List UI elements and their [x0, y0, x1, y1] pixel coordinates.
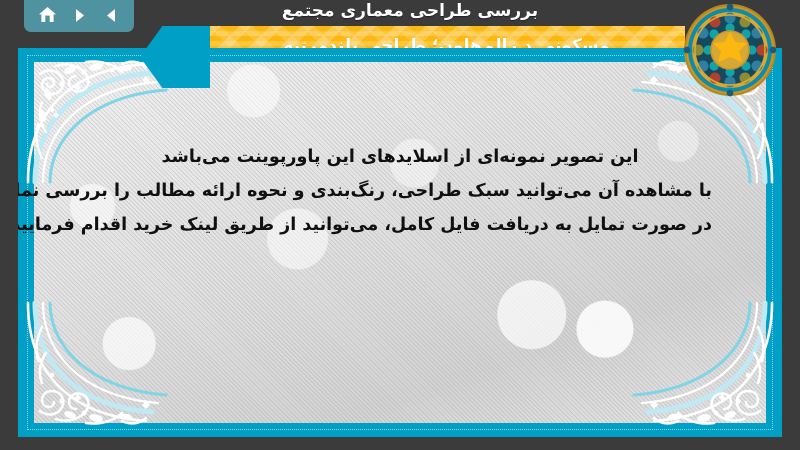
- body-line-3: در صورت تمایل به دریافت فایل کامل، می‌تو…: [88, 208, 712, 242]
- triangle-right-icon: [71, 7, 88, 24]
- slide-body-text: این تصویر نمونه‌ای از اسلایدهای این پاور…: [88, 140, 712, 242]
- body-line-1: این تصویر نمونه‌ای از اسلایدهای این پاور…: [88, 140, 712, 174]
- home-icon: [38, 6, 57, 24]
- body-line-2: با مشاهده آن می‌توانید سبک طراحی، رنگ‌بن…: [88, 174, 712, 208]
- back-button[interactable]: [98, 3, 124, 27]
- slide-canvas: این تصویر نمونه‌ای از اسلایدهای این پاور…: [18, 48, 782, 437]
- slide-background: [34, 62, 766, 423]
- forward-button[interactable]: [66, 3, 92, 27]
- navigation-toolbar: [24, 0, 134, 32]
- title-line-1: بررسی طراحی معماری مجتمع: [150, 1, 670, 21]
- slide-preview-window: بررسی طراحی معماری مجتمع مسکونی دِ زالم‌…: [0, 0, 800, 450]
- home-button[interactable]: [34, 3, 60, 27]
- triangle-left-icon: [103, 7, 120, 24]
- ornamental-medallion-icon: [682, 2, 778, 98]
